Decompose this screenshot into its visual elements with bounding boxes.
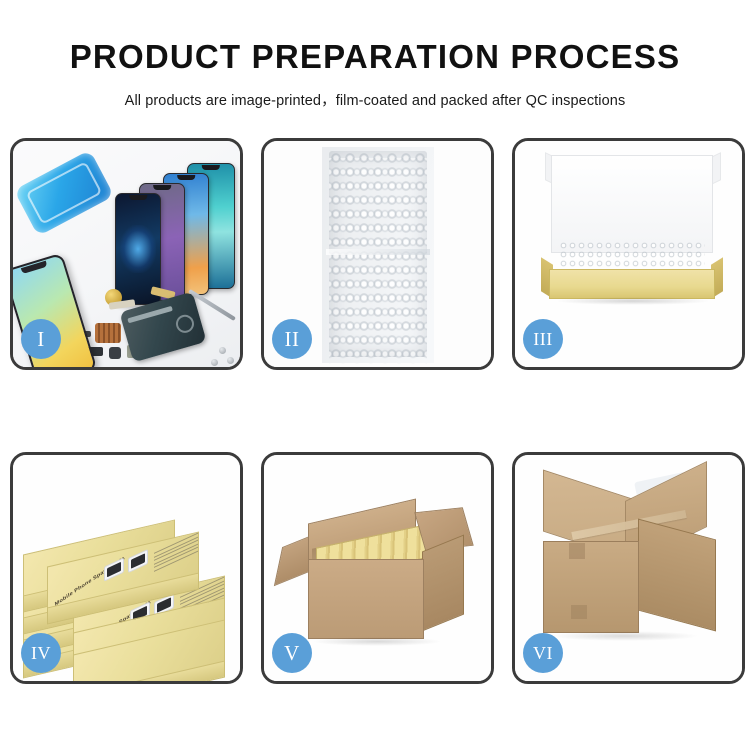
- screw-icon: [211, 359, 218, 366]
- carton-handle-tab: [571, 605, 587, 619]
- carton-side-panel: [422, 535, 464, 632]
- process-step-panel-2: II: [261, 138, 494, 370]
- carton-front-panel: [543, 541, 639, 633]
- bubble-wrap-overlay-icon: [329, 158, 427, 364]
- mailer-lid: [551, 155, 713, 253]
- process-step-grid: I II: [10, 138, 745, 750]
- screw-icon: [219, 347, 226, 354]
- step-badge-3: III: [523, 319, 563, 359]
- product-preparation-infographic: PRODUCT PREPARATION PROCESS All products…: [0, 0, 750, 750]
- screw-icon: [227, 357, 234, 364]
- mailer-front-panel: [549, 269, 715, 299]
- process-step-panel-1: I: [10, 138, 243, 370]
- process-step-panel-3: III: [512, 138, 745, 370]
- drop-shadow: [555, 297, 711, 305]
- step-badge-2: II: [272, 319, 312, 359]
- carton-front-panel: [308, 559, 424, 639]
- process-row-2: Mobile Phone Spare Parts Mobile Phone Sp…: [10, 452, 745, 684]
- process-row-1: I II: [10, 138, 745, 370]
- carton-handle-tab: [569, 543, 585, 559]
- copper-mesh-part-icon: [95, 323, 121, 343]
- wrap-seam: [326, 249, 430, 255]
- header: PRODUCT PREPARATION PROCESS All products…: [0, 0, 750, 110]
- page-title: PRODUCT PREPARATION PROCESS: [0, 0, 750, 73]
- process-step-panel-4: Mobile Phone Spare Parts Mobile Phone Sp…: [10, 452, 243, 684]
- step-badge-6: VI: [523, 633, 563, 673]
- step-badge-4: IV: [21, 633, 61, 673]
- drop-shadow: [551, 631, 699, 641]
- drop-shadow: [312, 637, 442, 646]
- step-badge-1: I: [21, 319, 61, 359]
- step-badge-5: V: [272, 633, 312, 673]
- process-step-panel-5: V: [261, 452, 494, 684]
- page-subtitle: All products are image-printed，film-coat…: [0, 73, 750, 110]
- camera-module-part-icon: [109, 347, 121, 359]
- process-step-panel-6: VI: [512, 452, 745, 684]
- screen-protector-icon: [14, 150, 114, 236]
- carton-side-panel: [638, 519, 716, 632]
